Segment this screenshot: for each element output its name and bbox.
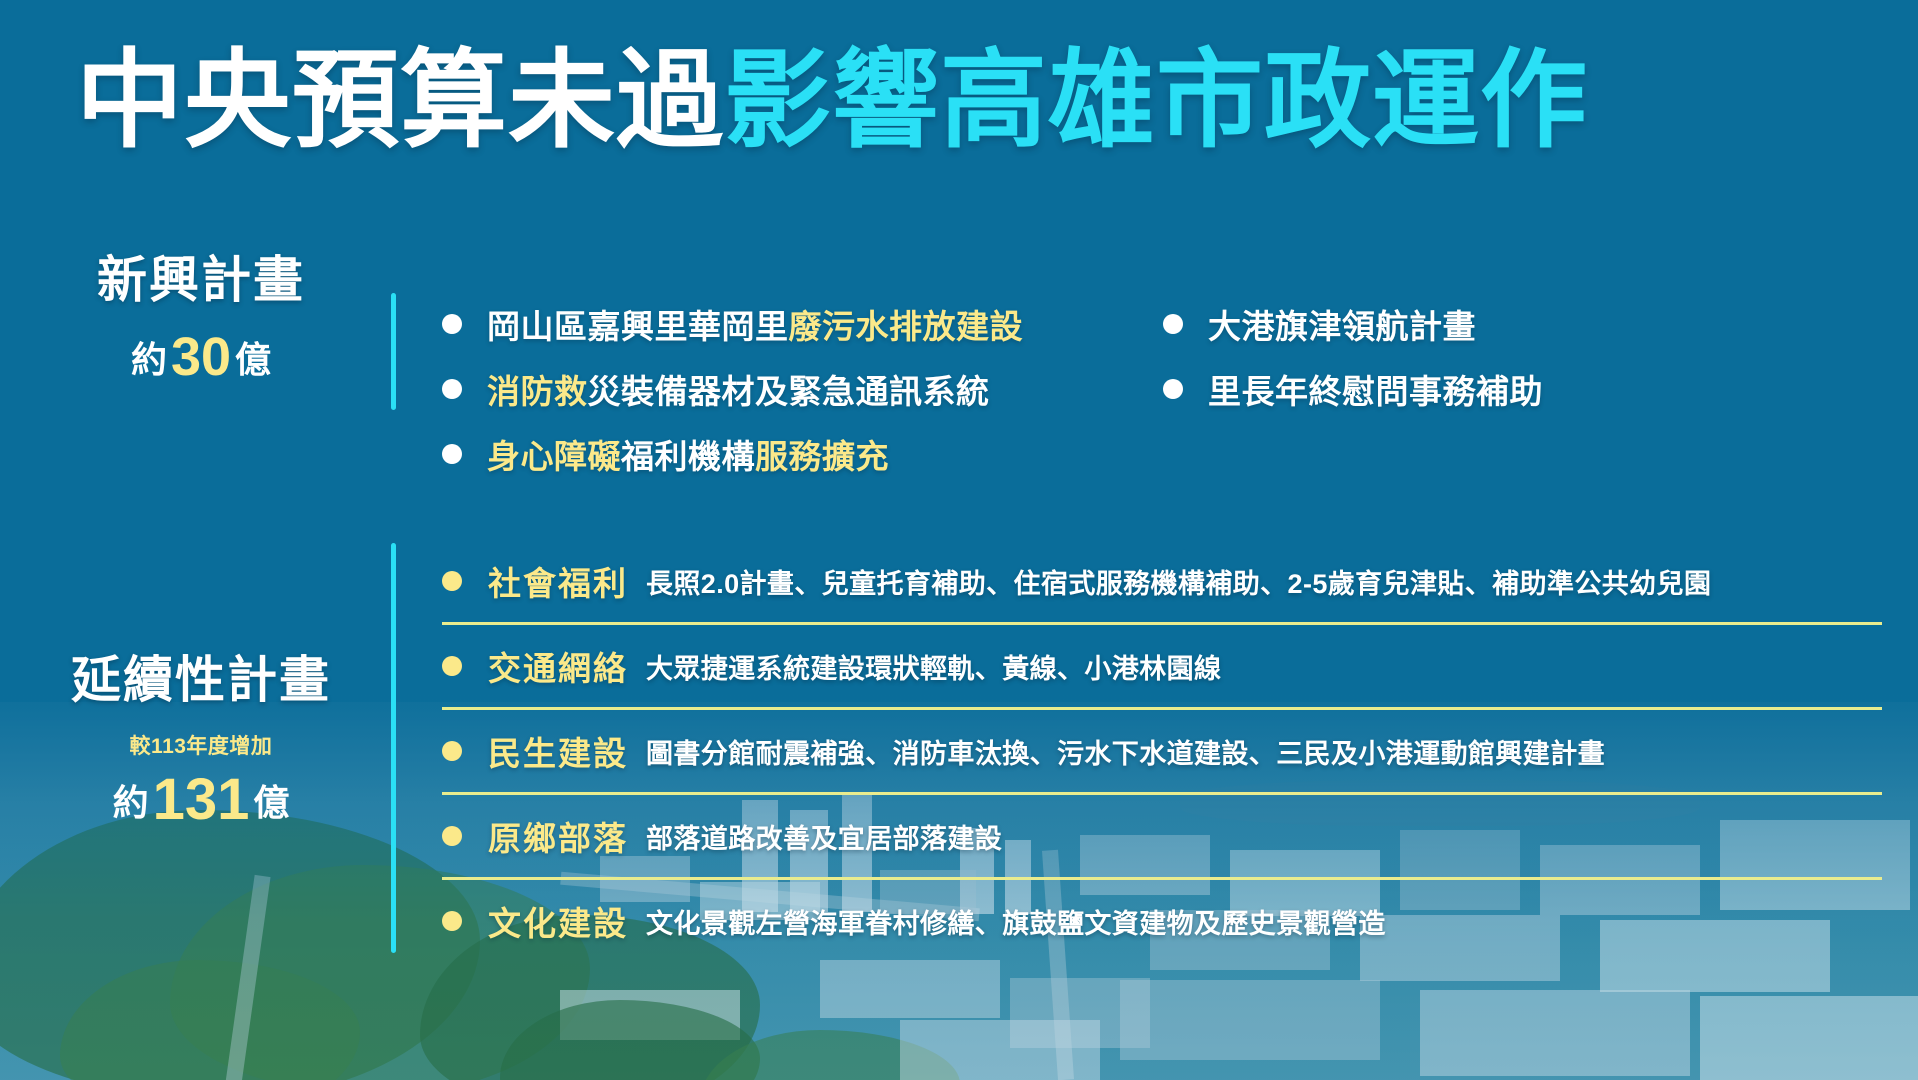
category-label: 原鄉部落: [488, 812, 646, 860]
title-cyan-part: 影響高雄市政運作: [724, 40, 1588, 160]
continuing-plan-subnote: 較113年度增加: [36, 730, 366, 760]
new-plan-amount: 約30億: [36, 326, 366, 388]
list-item: 消防救災裝備器材及緊急通訊系統: [442, 365, 1023, 413]
bullet-dot-icon: [442, 314, 462, 334]
list-item: 岡山區嘉興里華岡里廢污水排放建設: [442, 300, 1023, 348]
list-item: 里長年終慰問事務補助: [1163, 365, 1543, 413]
category-description: 長照2.0計畫、兒童托育補助、住宿式服務機構補助、2-5歲育兒津貼、補助準公共幼…: [646, 562, 1711, 601]
title-white-part: 中央預算未過: [76, 40, 724, 160]
table-row: 交通網絡 大眾捷運系統建設環狀輕軌、黃線、小港林園線: [442, 625, 1882, 707]
new-plan-divider-line: [391, 293, 396, 410]
continuing-plan-label-group: 延續性計畫 較113年度增加 約131億: [36, 640, 366, 833]
bullet-dot-icon: [442, 911, 462, 931]
category-description: 圖書分館耐震補強、消防車汰換、污水下水道建設、三民及小港運動館興建計畫: [646, 732, 1605, 771]
new-plan-bullet-column-left: 岡山區嘉興里華岡里廢污水排放建設 消防救災裝備器材及緊急通訊系統 身心障礙福利機…: [442, 300, 1023, 495]
category-label: 文化建設: [488, 897, 646, 945]
new-plan-item-2: 消防救災裝備器材及緊急通訊系統: [487, 365, 990, 413]
continuing-plan-amount-value: 131: [149, 767, 254, 832]
bullet-dot-icon: [442, 571, 462, 591]
infographic-poster: 中央預算未過影響高雄市政運作 新興計畫 約30億 岡山區嘉興里華岡里廢污水排放建…: [0, 0, 1918, 1080]
bullet-dot-icon: [442, 379, 462, 399]
category-label: 社會福利: [488, 557, 646, 605]
new-plan-amount-unit: 億: [235, 339, 271, 380]
continuing-plan-table: 社會福利 長照2.0計畫、兒童托育補助、住宿式服務機構補助、2-5歲育兒津貼、補…: [442, 540, 1882, 962]
new-plan-item-5: 里長年終慰問事務補助: [1208, 365, 1543, 413]
bullet-dot-icon: [442, 656, 462, 676]
new-plan-heading: 新興計畫: [36, 240, 366, 312]
new-plan-amount-prefix: 約: [131, 339, 167, 380]
new-plan-item-4: 大港旗津領航計畫: [1208, 300, 1476, 348]
bullet-dot-icon: [1163, 379, 1183, 399]
new-plan-amount-value: 30: [167, 327, 235, 387]
continuing-plan-heading: 延續性計畫: [36, 640, 366, 712]
new-plan-label-group: 新興計畫 約30億: [36, 240, 366, 388]
new-plan-bullet-column-right: 大港旗津領航計畫 里長年終慰問事務補助: [1163, 300, 1543, 430]
table-row: 民生建設 圖書分館耐震補強、消防車汰換、污水下水道建設、三民及小港運動館興建計畫: [442, 710, 1882, 792]
continuing-plan-divider-line: [391, 543, 396, 953]
list-item: 大港旗津領航計畫: [1163, 300, 1543, 348]
table-row: 原鄉部落 部落道路改善及宜居部落建設: [442, 795, 1882, 877]
bullet-dot-icon: [442, 444, 462, 464]
continuing-plan-amount-prefix: 約: [113, 782, 149, 823]
bullet-dot-icon: [442, 741, 462, 761]
list-item: 身心障礙福利機構服務擴充: [442, 430, 1023, 478]
bullet-dot-icon: [1163, 314, 1183, 334]
category-description: 大眾捷運系統建設環狀輕軌、黃線、小港林園線: [646, 647, 1221, 686]
continuing-plan-amount-unit: 億: [253, 782, 289, 823]
category-label: 交通網絡: [488, 642, 646, 690]
new-plan-item-1: 岡山區嘉興里華岡里廢污水排放建設: [487, 300, 1023, 348]
table-row: 社會福利 長照2.0計畫、兒童托育補助、住宿式服務機構補助、2-5歲育兒津貼、補…: [442, 540, 1882, 622]
continuing-plan-amount: 約131億: [36, 766, 366, 833]
table-row: 文化建設 文化景觀左營海軍眷村修繕、旗鼓鹽文資建物及歷史景觀營造: [442, 880, 1882, 962]
new-plan-item-3: 身心障礙福利機構服務擴充: [487, 430, 889, 478]
category-description: 文化景觀左營海軍眷村修繕、旗鼓鹽文資建物及歷史景觀營造: [646, 902, 1386, 941]
bullet-dot-icon: [442, 826, 462, 846]
category-description: 部落道路改善及宜居部落建設: [646, 817, 1002, 856]
page-title: 中央預算未過影響高雄市政運作: [76, 44, 1588, 156]
category-label: 民生建設: [488, 727, 646, 775]
